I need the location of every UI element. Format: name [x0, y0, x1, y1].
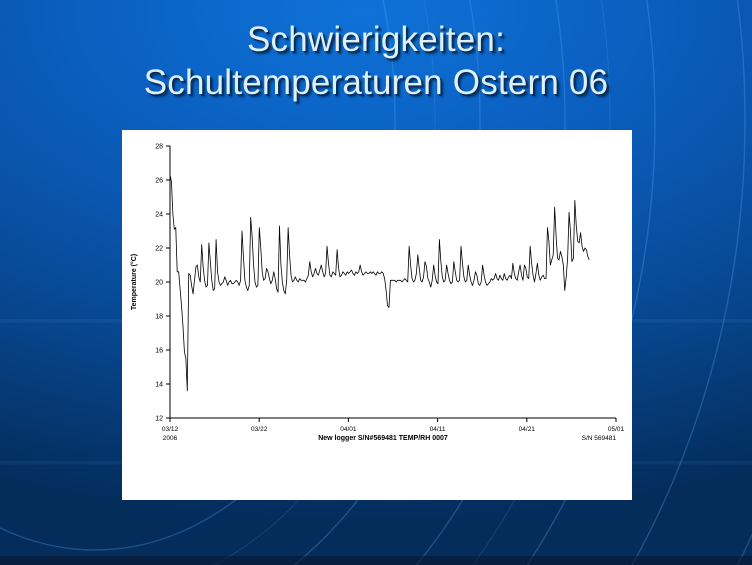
svg-text:26: 26	[155, 178, 163, 185]
svg-text:03/12: 03/12	[162, 426, 179, 433]
svg-text:28: 28	[155, 144, 163, 151]
slide: Schwierigkeiten: Schultemperaturen Oster…	[0, 0, 752, 565]
svg-text:04/01: 04/01	[340, 426, 357, 433]
svg-text:Temperature (°C): Temperature (°C)	[130, 254, 138, 310]
svg-text:24: 24	[155, 212, 163, 219]
svg-text:18: 18	[155, 314, 163, 321]
svg-text:S/N 569481: S/N 569481	[582, 435, 617, 442]
svg-text:04/11: 04/11	[430, 426, 446, 433]
svg-text:New logger S/N#569481 TEMP/RH: New logger S/N#569481 TEMP/RH 0007	[318, 435, 448, 442]
svg-text:03/22: 03/22	[251, 426, 268, 433]
page-title: Schwierigkeiten: Schultemperaturen Oster…	[0, 18, 752, 104]
temperature-chart: 121416182022242628Temperature (°C)03/120…	[122, 130, 632, 500]
svg-text:05/01: 05/01	[608, 426, 625, 433]
svg-text:20: 20	[155, 280, 163, 287]
svg-text:04/21: 04/21	[519, 426, 536, 433]
svg-text:22: 22	[155, 246, 163, 253]
chart-panel: 121416182022242628Temperature (°C)03/120…	[122, 130, 632, 500]
svg-text:2006: 2006	[163, 435, 178, 442]
svg-text:12: 12	[155, 416, 163, 423]
svg-text:16: 16	[155, 348, 163, 355]
svg-text:14: 14	[155, 382, 163, 389]
